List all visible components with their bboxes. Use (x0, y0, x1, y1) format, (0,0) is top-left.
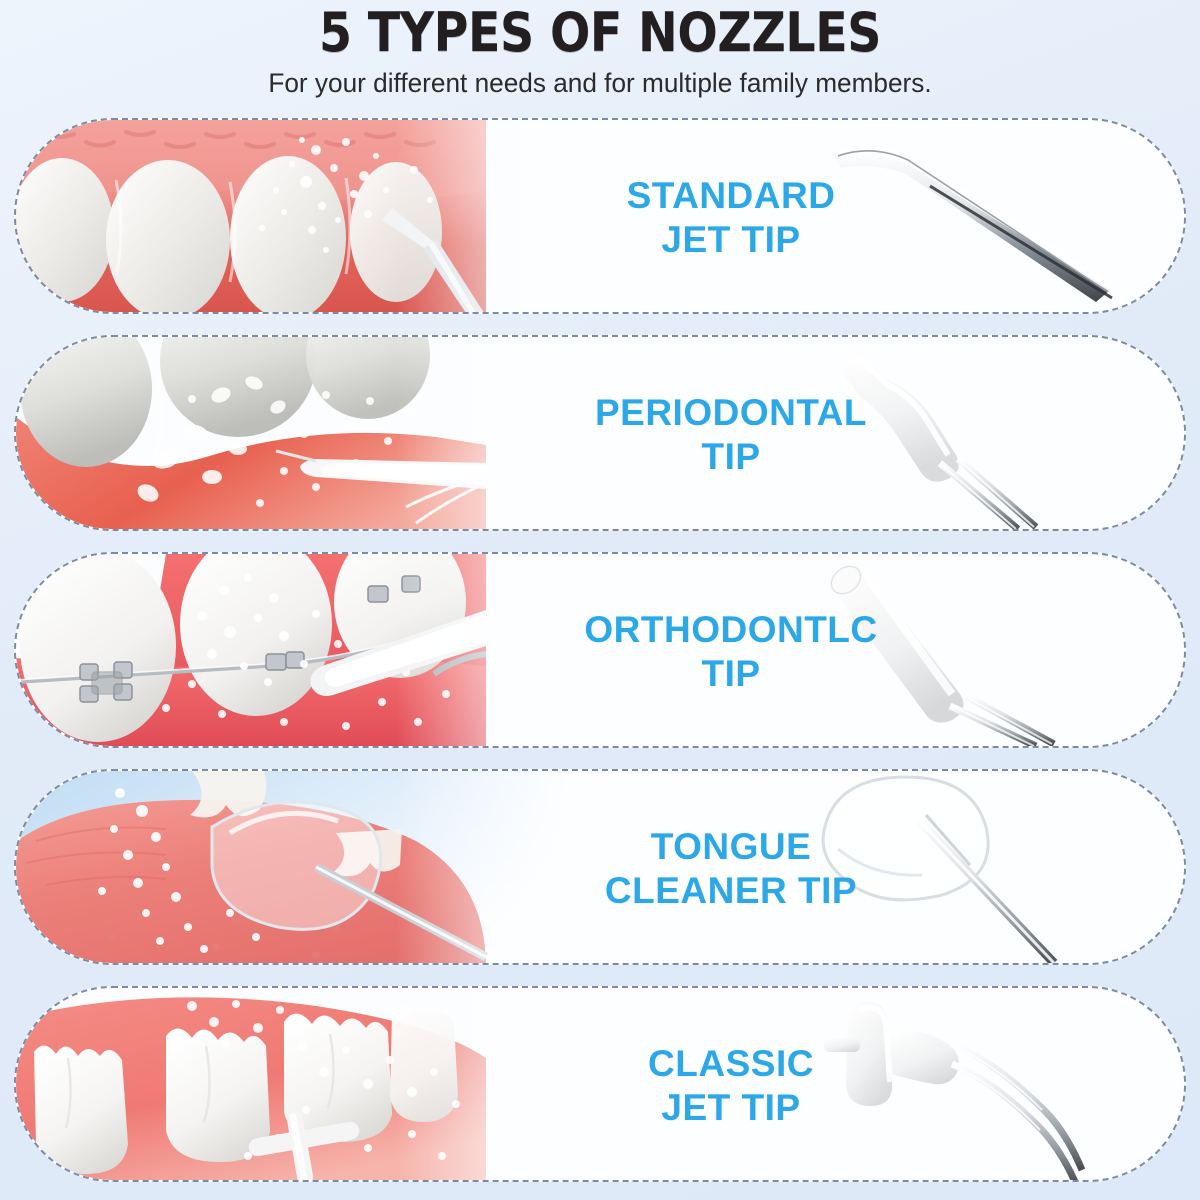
nozzle-row-standard-jet-tip[interactable]: STANDARD JET TIP (14, 118, 1186, 314)
label-line-2: TIP (536, 435, 926, 479)
label-line-2: CLEANER TIP (536, 869, 926, 913)
illustration-gum-pocket-splash (16, 337, 576, 529)
label-line-1: STANDARD (627, 175, 836, 216)
page-subtitle: For your different needs and for multipl… (18, 66, 1182, 100)
row-label-standard-jet-tip: STANDARD JET TIP (536, 174, 926, 262)
label-line-1: ORTHODONTLC (584, 609, 877, 650)
row-label-orthodontic-tip: ORTHODONTLC TIP (536, 608, 926, 696)
label-line-2: JET TIP (536, 218, 926, 262)
infographic-page: 5 TYPES OF NOZZLES For your different ne… (0, 0, 1200, 1200)
nozzle-row-tongue-cleaner-tip[interactable]: TONGUE CLEANER TIP (14, 769, 1186, 965)
label-line-1: TONGUE (651, 826, 812, 867)
label-line-2: TIP (536, 652, 926, 696)
nozzle-row-periodontal-tip[interactable]: PERIODONTAL TIP (14, 335, 1186, 531)
nozzle-row-classic-jet-tip[interactable]: CLASSIC JET TIP (14, 986, 1186, 1182)
row-label-classic-jet-tip: CLASSIC JET TIP (536, 1042, 926, 1130)
illustration-braces-teeth-spray (16, 554, 576, 746)
page-title: 5 TYPES OF NOZZLES (72, 0, 1128, 62)
illustration-tongue-scraper (16, 771, 576, 963)
header: 5 TYPES OF NOZZLES For your different ne… (0, 0, 1200, 112)
row-label-periodontal-tip: PERIODONTAL TIP (536, 391, 926, 479)
nozzle-row-orthodontic-tip[interactable]: ORTHODONTLC TIP (14, 552, 1186, 748)
label-line-1: PERIODONTAL (595, 392, 867, 433)
label-line-2: JET TIP (536, 1086, 926, 1130)
illustration-teeth-gums-spray (16, 120, 576, 312)
label-line-1: CLASSIC (648, 1043, 814, 1084)
illustration-molars-spray (16, 988, 576, 1180)
row-label-tongue-cleaner-tip: TONGUE CLEANER TIP (536, 825, 926, 913)
